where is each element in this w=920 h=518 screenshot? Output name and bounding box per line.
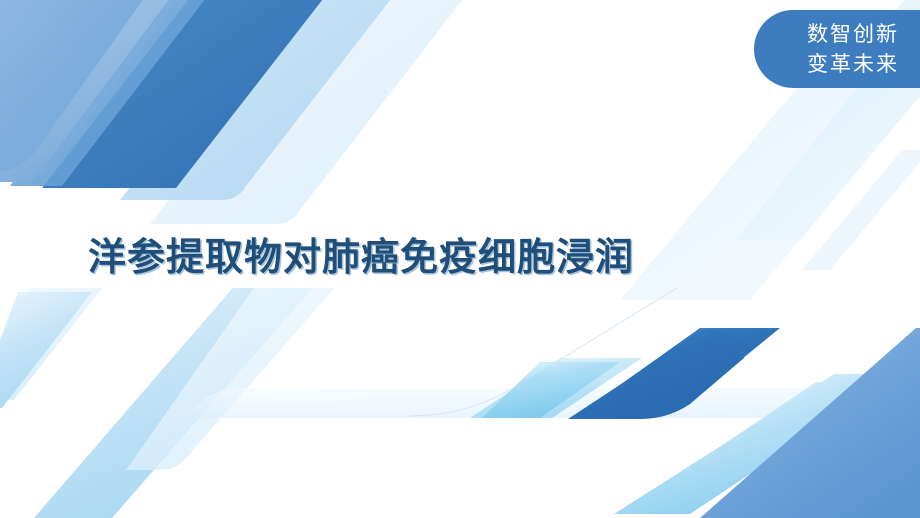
bottom-decoration	[0, 288, 920, 518]
top-left-decoration	[0, 0, 560, 230]
slide-canvas: 数智创新 变革未来 洋参提取物对肺癌免疫细胞浸润	[0, 0, 920, 518]
badge-line-2: 变革未来	[807, 49, 899, 79]
badge-line-1: 数智创新	[807, 19, 899, 49]
corner-badge: 数智创新 变革未来	[754, 10, 920, 88]
slide-title: 洋参提取物对肺癌免疫细胞浸润	[88, 232, 634, 282]
